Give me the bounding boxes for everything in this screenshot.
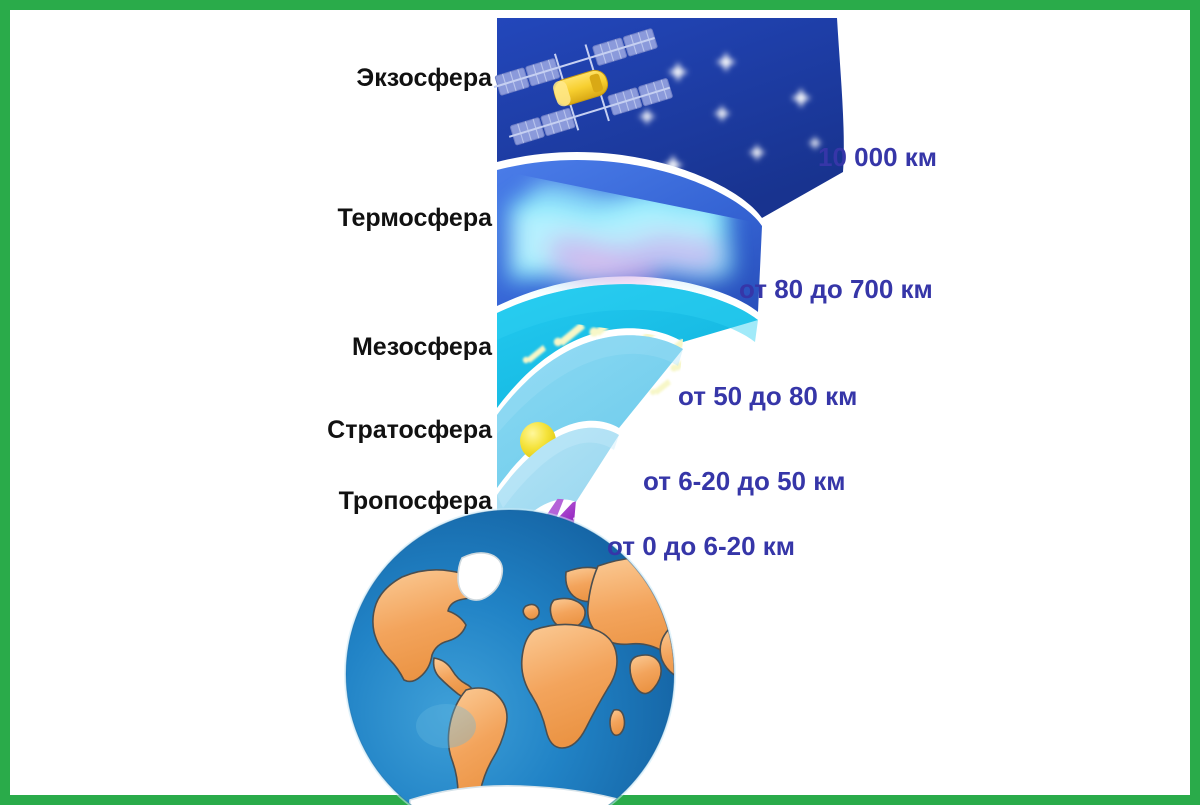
- layer-label-troposphere: Тропосфера: [339, 487, 492, 516]
- infographic-stage: Экзосфера Термосфера Мезосфера Стратосфе…: [10, 10, 1200, 805]
- layer-label-stratosphere: Стратосфера: [327, 416, 492, 445]
- layer-label-thermosphere: Термосфера: [337, 204, 492, 233]
- altitude-label-troposphere: от 0 до 6-20 км: [607, 531, 795, 562]
- altitude-label-exosphere: 10 000 км: [818, 142, 937, 173]
- layer-label-exosphere: Экзосфера: [356, 64, 492, 93]
- altitude-label-mesosphere: от 50 до 80 км: [678, 381, 857, 412]
- poster-frame: Экзосфера Термосфера Мезосфера Стратосфе…: [0, 0, 1200, 805]
- altitude-label-thermosphere: от 80 до 700 км: [739, 274, 933, 305]
- atmosphere-diagram: [10, 10, 1200, 805]
- layer-label-mesosphere: Мезосфера: [352, 333, 492, 362]
- altitude-label-stratosphere: от 6-20 до 50 км: [643, 466, 845, 497]
